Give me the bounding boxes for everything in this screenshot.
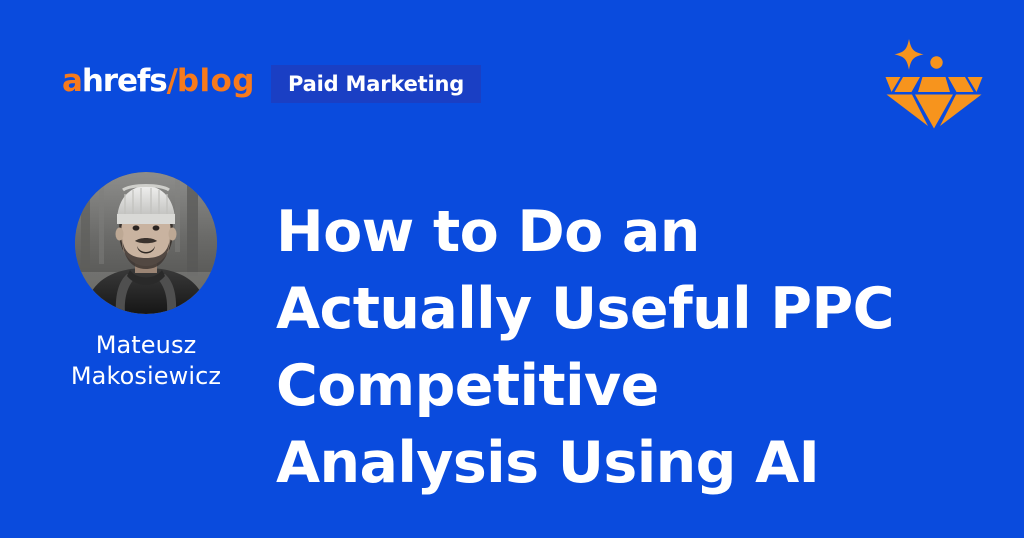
cover-header: ahrefs/blog Paid Marketing [0, 0, 1024, 140]
logo-text-hrefs: hrefs [82, 63, 167, 99]
title-line-1: How to Do an [276, 194, 976, 271]
dot-icon [930, 56, 942, 68]
gem-icon [879, 30, 987, 130]
author-name: Mateusz Makosiewicz [21, 330, 271, 391]
category-badge-label: Paid Marketing [288, 74, 464, 95]
logo-text-blog: blog [177, 63, 255, 99]
ahrefs-blog-logo[interactable]: ahrefs/blog [62, 66, 255, 97]
sparkle-icon [894, 39, 923, 70]
title-line-3: Competitive [276, 348, 976, 425]
page-title: How to Do an Actually Useful PPC Competi… [276, 194, 976, 502]
diamond-shape [886, 77, 983, 129]
author-name-line-2: Makosiewicz [71, 362, 221, 390]
blog-cover-card: ahrefs/blog Paid Marketing [0, 0, 1024, 538]
author-name-line-1: Mateusz [96, 331, 197, 359]
title-line-2: Actually Useful PPC [276, 271, 976, 348]
category-badge[interactable]: Paid Marketing [271, 65, 481, 103]
author-block: Mateusz Makosiewicz [21, 172, 271, 391]
avatar [75, 172, 217, 314]
logo-letter-a: a [62, 63, 82, 99]
title-line-4: Analysis Using AI [276, 425, 976, 502]
logo-slash: / [167, 63, 177, 99]
